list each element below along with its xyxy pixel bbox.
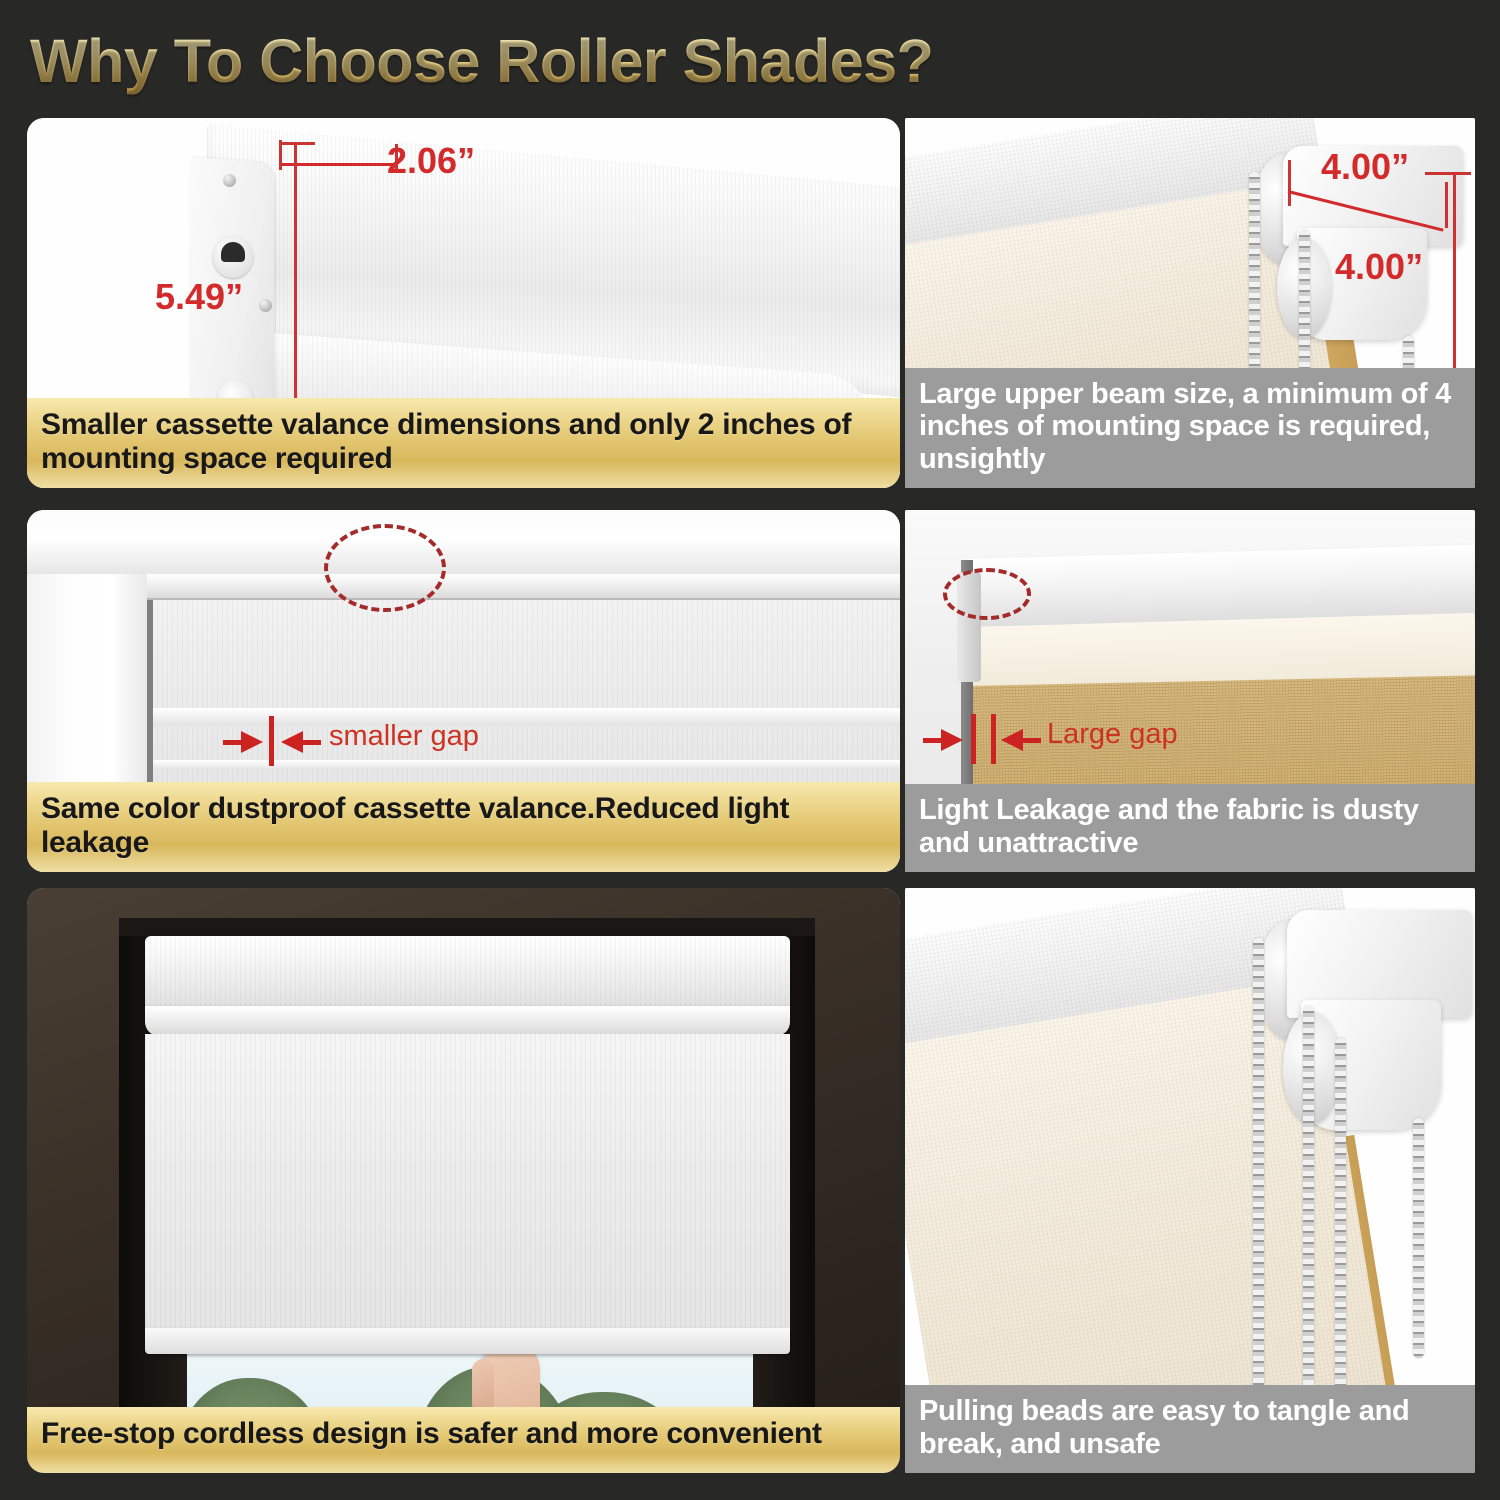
highlight-ellipse-marker — [324, 524, 446, 612]
page-title-text: Why To Choose Roller Shades? — [30, 26, 933, 96]
gap-callout-label: smaller gap — [329, 720, 479, 753]
beam-height-dimension-line — [1453, 172, 1456, 374]
window-frame-top — [27, 510, 900, 574]
beam-height-tick-top — [1425, 172, 1471, 175]
cassette-valance-bar — [145, 936, 790, 1008]
gap-arrow-stem-right — [1023, 738, 1041, 743]
screw-icon — [223, 174, 236, 187]
beam-width-tick-right — [1445, 182, 1448, 228]
cassette-valance-bar — [147, 574, 900, 600]
bead-chain — [1303, 1006, 1314, 1426]
gap-arrow-right-icon — [241, 731, 263, 753]
beam-height-dimension-label: 4.00” — [1335, 246, 1423, 288]
cordless-design-illustration — [27, 888, 900, 1473]
gap-arrow-right-icon — [941, 729, 963, 751]
height-dimension-tick-top — [279, 142, 315, 145]
bead-chain — [1413, 1118, 1424, 1358]
panel-caption: Large upper beam size, a minimum of 4 in… — [905, 368, 1475, 488]
bracket-slot-icon — [213, 236, 253, 278]
gap-arrow-left-icon — [1001, 729, 1023, 751]
cassette-front-lip — [145, 1006, 790, 1036]
gap-arrow-left-icon — [281, 731, 303, 753]
height-dimension-label: 5.49” — [155, 276, 243, 318]
beam-width-tick-left — [1288, 160, 1291, 206]
panel-light-leakage: Large gap Light Leakage and the fabric i… — [905, 510, 1475, 872]
bead-chain — [1253, 938, 1264, 1428]
panel-caption: Pulling beads are easy to tangle and bre… — [905, 1385, 1475, 1473]
panel-caption: Light Leakage and the fabric is dusty an… — [905, 784, 1475, 872]
shade-mid-band — [147, 708, 900, 726]
width-dimension-label: 2.06” — [387, 140, 475, 182]
screw-icon — [259, 299, 272, 312]
panel-caption: Free-stop cordless design is safer and m… — [27, 1407, 900, 1473]
panel-cordless-design: Free-stop cordless design is safer and m… — [27, 888, 900, 1473]
panel-dustproof-valance: smaller gap Same color dustproof cassett… — [27, 510, 900, 872]
panel-caption: Same color dustproof cassette valance.Re… — [27, 782, 900, 872]
beam-width-dimension-label: 4.00” — [1321, 146, 1409, 188]
panel-upper-beam-size: 4.00” 4.00” Large upper beam size, a min… — [905, 118, 1475, 488]
panel-cassette-dimensions: 2.06” 5.49” Smaller cassette valance dim… — [27, 118, 900, 488]
gap-measure-bar — [971, 714, 976, 764]
shade-lower-band — [147, 760, 900, 770]
gap-measure-bar — [269, 716, 274, 766]
gap-arrow-stem-right — [303, 740, 321, 745]
gap-measure-bar — [991, 714, 996, 764]
panel-caption: Smaller cassette valance dimensions and … — [27, 398, 900, 488]
shade-fabric-area — [145, 1034, 790, 1344]
shade-bottom-bar — [145, 1328, 790, 1354]
bead-chain — [1335, 1038, 1346, 1428]
gap-callout-label: Large gap — [1047, 718, 1178, 751]
page-title: Why To Choose Roller Shades? — [30, 20, 1050, 102]
highlight-ellipse-marker — [943, 568, 1031, 620]
panel-pulling-beads: Pulling beads are easy to tangle and bre… — [905, 888, 1475, 1473]
